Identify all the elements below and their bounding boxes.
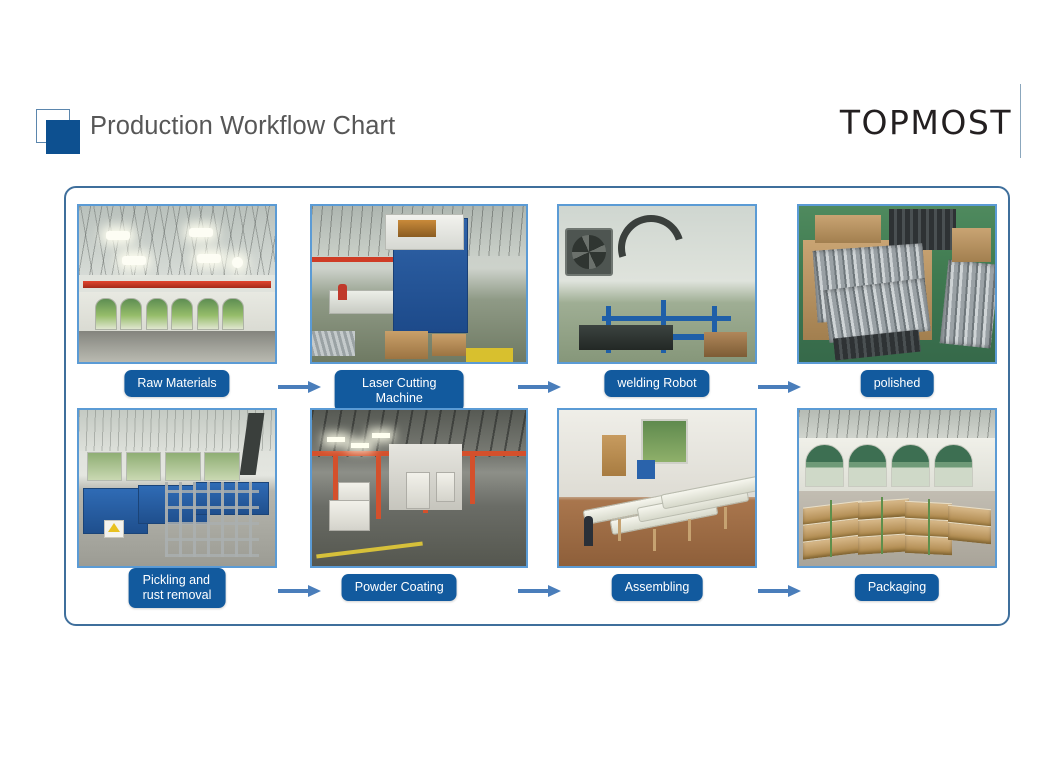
brand-wordmark: TOPMOST [840, 106, 1012, 139]
photo-assembling [557, 408, 757, 568]
step-label-powder-coating: Powder Coating [342, 574, 457, 601]
brand-text-top: TOP [840, 106, 911, 139]
photo-laser-cutting-machine [310, 204, 528, 364]
step-label-raw-materials: Raw Materials [124, 370, 229, 397]
workflow-step-powder-coating[interactable]: Powder Coating [306, 400, 528, 616]
workflow-step-laser-cutting[interactable]: Laser Cutting Machine [306, 196, 528, 412]
connector-1 [288, 196, 306, 412]
connector-4 [288, 400, 306, 616]
photo-pickling-rust-removal [77, 408, 277, 568]
workflow-row-2: Pickling and rust removal [66, 400, 1012, 616]
connector-3 [768, 196, 786, 412]
page-header: Production Workflow Chart TOPMOST [0, 0, 1060, 178]
workflow-step-welding-robot[interactable]: welding Robot [546, 196, 768, 412]
brand-text-ost: OST [940, 106, 1012, 139]
page-title: Production Workflow Chart [90, 112, 395, 141]
workflow-step-assembling[interactable]: Assembling [546, 400, 768, 616]
photo-polished [797, 204, 997, 364]
workflow-step-polished[interactable]: polished [786, 196, 1008, 412]
step-label-welding-robot: welding Robot [604, 370, 709, 397]
connector-5 [528, 400, 546, 616]
connector-2 [528, 196, 546, 412]
photo-raw-materials [77, 204, 277, 364]
brand-letter-m: M [910, 106, 940, 139]
brand-logo: TOPMOST [840, 104, 1012, 140]
step-label-pickling: Pickling and rust removal [129, 568, 226, 608]
header-vertical-divider [1020, 84, 1022, 158]
photo-packaging [797, 408, 997, 568]
logo-filled-square-icon [46, 120, 80, 154]
step-label-polished: polished [861, 370, 934, 397]
step-label-assembling: Assembling [612, 574, 703, 601]
step-label-packaging: Packaging [855, 574, 939, 601]
workflow-step-raw-materials[interactable]: Raw Materials [66, 196, 288, 412]
workflow-container: Raw Materials [64, 186, 1010, 626]
workflow-step-pickling[interactable]: Pickling and rust removal [66, 400, 288, 616]
photo-welding-robot [557, 204, 757, 364]
workflow-step-packaging[interactable]: Packaging [786, 400, 1008, 616]
photo-powder-coating [310, 408, 528, 568]
workflow-row-1: Raw Materials [66, 196, 1012, 412]
connector-6 [768, 400, 786, 616]
brand-m-notch-icon [918, 108, 932, 121]
